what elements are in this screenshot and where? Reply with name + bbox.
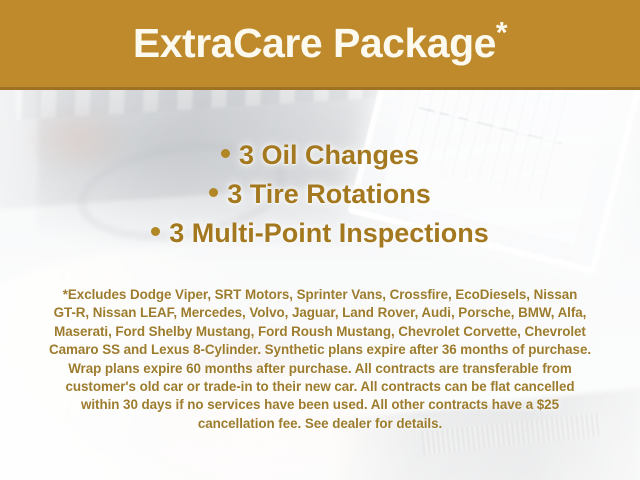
page-title-text: ExtraCare Package — [133, 20, 496, 66]
disclaimer-line: *Excludes Dodge Viper, SRT Motors, Sprin… — [22, 286, 618, 304]
disclaimer-line: Maserati, Ford Shelby Mustang, Ford Rous… — [22, 323, 618, 341]
benefit-label: 3 Tire Rotations — [227, 179, 431, 209]
list-item: 3 Tire Rotations — [0, 175, 640, 214]
extracare-package-promo-card: ExtraCare Package* 3 Oil Changes 3 Tire … — [0, 0, 640, 480]
disclaimer-block: *Excludes Dodge Viper, SRT Motors, Sprin… — [22, 286, 618, 433]
disclaimer-line: Camaro SS and Lexus 8-Cylinder. Syntheti… — [22, 341, 618, 359]
bullet-dot-icon — [151, 227, 160, 236]
benefit-label: 3 Multi-Point Inspections — [169, 218, 489, 248]
bullet-dot-icon — [209, 188, 218, 197]
page-title-asterisk: * — [496, 16, 507, 49]
list-item: 3 Oil Changes — [0, 136, 640, 175]
disclaimer-line: cancellation fee. See dealer for details… — [22, 415, 618, 433]
page-title: ExtraCare Package* — [133, 23, 507, 68]
bullet-dot-icon — [221, 149, 230, 158]
benefits-list: 3 Oil Changes 3 Tire Rotations 3 Multi-P… — [0, 136, 640, 253]
header-band: ExtraCare Package* — [0, 0, 640, 90]
disclaimer-line: GT-R, Nissan LEAF, Mercedes, Volvo, Jagu… — [22, 304, 618, 322]
disclaimer-line: customer's old car or trade-in to their … — [22, 378, 618, 396]
disclaimer-line: Wrap plans expire 60 months after purcha… — [22, 360, 618, 378]
disclaimer-line: within 30 days if no services have been … — [22, 396, 618, 414]
benefit-label: 3 Oil Changes — [239, 140, 419, 170]
list-item: 3 Multi-Point Inspections — [0, 214, 640, 253]
